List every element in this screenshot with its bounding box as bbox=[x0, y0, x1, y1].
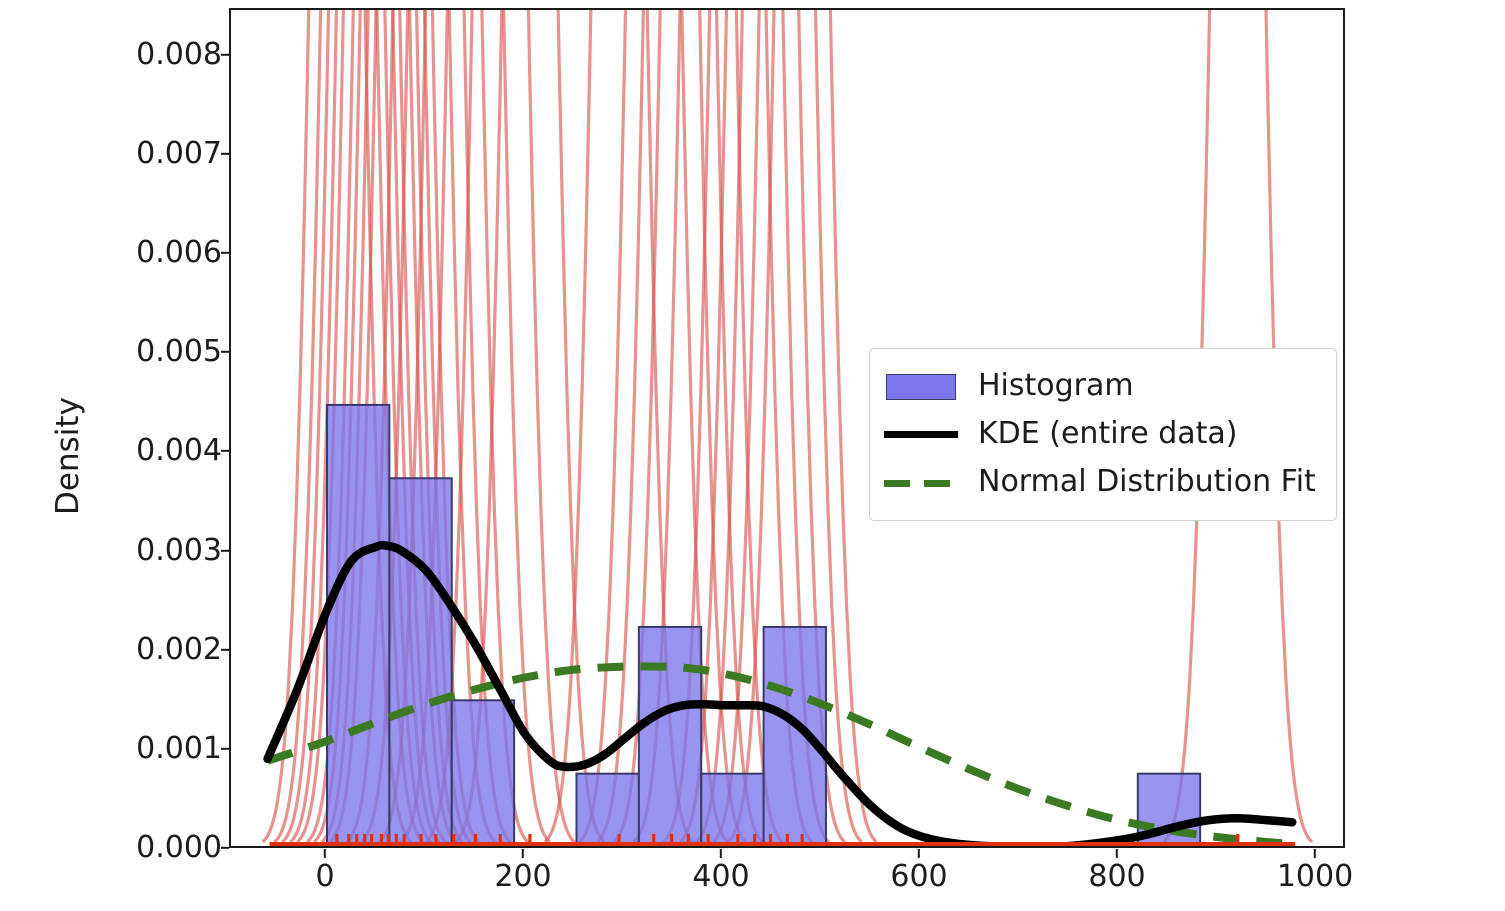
y-tick-label: 0.005 bbox=[136, 337, 222, 367]
y-tick-mark bbox=[221, 847, 229, 849]
x-tick-label: 1000 bbox=[1277, 862, 1353, 892]
y-tick-label: 0.007 bbox=[136, 139, 222, 169]
y-axis-label: Density bbox=[50, 326, 86, 586]
rug-tick bbox=[528, 834, 531, 846]
y-tick-mark bbox=[221, 351, 229, 353]
legend-label: Histogram bbox=[978, 371, 1134, 401]
y-tick-mark bbox=[221, 252, 229, 254]
rug-tick bbox=[769, 834, 772, 846]
legend-label: KDE (entire data) bbox=[978, 419, 1237, 449]
rug-tick bbox=[736, 834, 739, 846]
rug-tick bbox=[387, 834, 390, 846]
rug-tick bbox=[652, 834, 655, 846]
rug-tick bbox=[347, 834, 350, 846]
figure: Density 0.000 0.001 0.002 0.003 0.004 0.… bbox=[0, 0, 1505, 911]
y-tick-label: 0.001 bbox=[136, 734, 222, 764]
x-tick-mark bbox=[324, 849, 326, 858]
rug-tick bbox=[434, 834, 437, 846]
rug-tick bbox=[370, 834, 373, 846]
rug-tick bbox=[452, 834, 455, 846]
rug-tick bbox=[380, 834, 383, 846]
legend[interactable]: Histogram KDE (entire data) Normal Distr… bbox=[869, 348, 1337, 521]
y-tick-mark bbox=[221, 153, 229, 155]
histogram-swatch-icon bbox=[884, 371, 958, 401]
legend-item-kde[interactable]: KDE (entire data) bbox=[884, 410, 1316, 458]
x-tick-label: 800 bbox=[1088, 862, 1145, 892]
y-tick-label: 0.008 bbox=[136, 40, 222, 70]
rug-tick bbox=[1236, 834, 1239, 846]
rug-tick bbox=[355, 834, 358, 846]
rug-tick bbox=[801, 834, 804, 846]
x-tick-mark bbox=[720, 849, 722, 858]
rug-tick bbox=[474, 834, 477, 846]
solid-line-icon bbox=[884, 419, 958, 449]
rug-tick bbox=[335, 834, 338, 846]
y-tick-mark bbox=[221, 54, 229, 56]
rug-tick bbox=[687, 834, 690, 846]
y-tick-mark bbox=[221, 649, 229, 651]
y-tick-mark bbox=[221, 550, 229, 552]
x-tick-mark bbox=[522, 849, 524, 858]
x-tick-label: 0 bbox=[315, 862, 334, 892]
histogram-bar bbox=[327, 405, 389, 846]
rug-tick bbox=[670, 834, 673, 846]
rug-tick bbox=[403, 834, 406, 846]
histogram-bar bbox=[764, 627, 826, 846]
x-tick-label: 600 bbox=[890, 862, 947, 892]
rug-tick bbox=[617, 834, 620, 846]
rug-tick bbox=[419, 834, 422, 846]
histogram-bar bbox=[639, 627, 701, 846]
rug-tick bbox=[395, 834, 398, 846]
rug-tick bbox=[753, 834, 756, 846]
legend-item-normal-fit[interactable]: Normal Distribution Fit bbox=[884, 458, 1316, 506]
histogram-bar bbox=[389, 478, 451, 846]
y-tick-label: 0.003 bbox=[136, 536, 222, 566]
rug-tick bbox=[499, 834, 502, 846]
histogram-bar bbox=[576, 774, 638, 846]
legend-item-histogram[interactable]: Histogram bbox=[884, 362, 1316, 410]
x-tick-mark bbox=[1314, 849, 1316, 858]
x-tick-label: 400 bbox=[692, 862, 749, 892]
histogram-bar bbox=[452, 700, 514, 846]
y-tick-label: 0.004 bbox=[136, 436, 222, 466]
rug-baseline bbox=[270, 842, 1296, 846]
legend-label: Normal Distribution Fit bbox=[978, 467, 1316, 497]
y-tick-mark bbox=[221, 748, 229, 750]
y-tick-label: 0.000 bbox=[136, 833, 222, 863]
x-tick-mark bbox=[1116, 849, 1118, 858]
rug-tick bbox=[707, 834, 710, 846]
rug-tick bbox=[363, 834, 366, 846]
dashed-line-icon bbox=[884, 467, 958, 497]
rug-tick bbox=[786, 834, 789, 846]
y-tick-label: 0.006 bbox=[136, 238, 222, 268]
x-tick-label: 200 bbox=[494, 862, 551, 892]
y-tick-label: 0.002 bbox=[136, 635, 222, 665]
y-tick-mark bbox=[221, 450, 229, 452]
x-tick-mark bbox=[918, 849, 920, 858]
